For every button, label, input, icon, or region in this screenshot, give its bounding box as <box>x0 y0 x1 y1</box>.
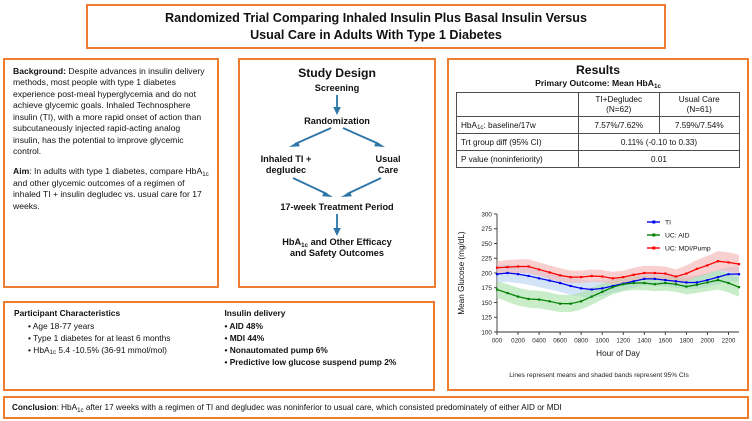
table-row: HbA1c: baseline/17w 7.57%/7.62% 7.59%/7.… <box>457 117 740 134</box>
table-row: P value (noninferiority) 0.01 <box>457 151 740 168</box>
flow-node-treatment-period: 17-week Treatment Period <box>240 202 434 213</box>
chart-legend: TIUC: AIDUC: MDI/Pump <box>647 220 711 253</box>
title-line-2: Usual Care in Adults With Type 1 Diabete… <box>250 28 502 42</box>
svg-text:275: 275 <box>481 226 492 233</box>
svg-text:250: 250 <box>481 241 492 248</box>
insulin-delivery-list: • AID 48% • MDI 44% • Nonautomated pump … <box>224 321 424 369</box>
cell-hba1c-uc: 7.59%/7.54% <box>659 117 740 134</box>
row0-label-before: HbA <box>461 121 477 130</box>
header-ti-line2: (N=62) <box>606 105 631 114</box>
svg-text:UC: AID: UC: AID <box>665 233 690 240</box>
aim-text-after: and other glycemic outcomes of a regimen… <box>13 178 202 211</box>
participant-characteristics-column: Participant Characteristics • Age 18-77 … <box>14 308 218 384</box>
header-uc-line2: (N=61) <box>687 105 712 114</box>
background-aim-panel: Background: Despite advances in insulin … <box>3 58 219 288</box>
aim-label: Aim <box>13 166 29 176</box>
flow-node-randomization: Randomization <box>240 116 434 127</box>
conclusion-subscript: 1c <box>77 407 84 414</box>
row0-label-sub: 1c <box>477 124 484 131</box>
flow-node-outcomes: HbA1c and Other Efficacy and Safety Outc… <box>240 237 434 259</box>
svg-text:000: 000 <box>492 338 503 345</box>
svg-text:2000: 2000 <box>701 338 715 345</box>
arm-uc-line-1: Usual <box>375 154 400 164</box>
mean-glucose-chart: 1001251501752002252502753000000200040006… <box>451 206 747 388</box>
conclusion-before: : HbA <box>57 403 77 412</box>
background-paragraph: Background: Despite advances in insulin … <box>13 66 209 157</box>
table-header-ti-degludec: TI+Degludec (N=62) <box>579 93 660 117</box>
results-heading: Results <box>454 63 742 77</box>
background-label: Background: <box>13 66 66 76</box>
arrow-arms-to-treatment <box>257 177 417 202</box>
outcomes-line-2: and Safety Outcomes <box>290 248 384 258</box>
results-subheading: Primary Outcome: Mean HbA1c <box>454 78 742 88</box>
conclusion-text: Conclusion: HbA1c after 17 weeks with a … <box>12 403 562 412</box>
header-ti-line1: TI+Degludec <box>595 95 642 104</box>
flow-node-arm-ti: Inhaled TI + degludec <box>245 154 327 176</box>
title-line-1: Randomized Trial Comparing Inhaled Insul… <box>165 11 587 25</box>
svg-text:225: 225 <box>481 256 492 263</box>
arm-ti-line-2: degludec <box>266 165 306 175</box>
svg-text:1000: 1000 <box>595 338 609 345</box>
results-subheading-subscript: 1c <box>654 83 661 90</box>
aim-text-before: : In adults with type 1 diabetes, compar… <box>29 166 202 176</box>
participants-heading: Participant Characteristics <box>14 308 218 320</box>
list-item: • AID 48% <box>224 321 424 333</box>
svg-text:0800: 0800 <box>574 338 588 345</box>
conclusion-after: after 17 weeks with a regimen of TI and … <box>84 403 562 412</box>
list-item: • Age 18-77 years <box>28 321 218 333</box>
svg-text:1800: 1800 <box>680 338 694 345</box>
list-item: • HbA1c 5.4 -10.5% (36-91 mmol/mol) <box>28 345 218 357</box>
background-text: Despite advances in insulin delivery met… <box>13 66 205 156</box>
results-panel: Results Primary Outcome: Mean HbA1c TI+D… <box>447 58 749 391</box>
participants-panel: Participant Characteristics • Age 18-77 … <box>3 301 435 391</box>
svg-text:300: 300 <box>481 211 492 218</box>
svg-text:125: 125 <box>481 315 492 322</box>
participant-item-duration: Type 1 diabetes for at least 6 months <box>33 333 170 343</box>
header-uc-line1: Usual Care <box>679 95 720 104</box>
arrow-screening-to-randomization <box>330 94 344 116</box>
outcomes-subscript: 1c <box>301 242 308 249</box>
table-row: Trt group diff (95% CI) 0.11% (-0.10 to … <box>457 134 740 151</box>
participant-item-hba1c-after: 5.4 -10.5% (36-91 mmol/mol) <box>56 345 167 355</box>
svg-text:Mean Glucose (mg/dL): Mean Glucose (mg/dL) <box>457 231 466 315</box>
title-banner: Randomized Trial Comparing Inhaled Insul… <box>86 4 666 49</box>
participant-item-age: Age 18-77 years <box>33 321 94 331</box>
study-design-heading: Study Design <box>240 66 434 80</box>
svg-text:175: 175 <box>481 285 492 292</box>
table-header-blank <box>457 93 579 117</box>
row-label-p-value: P value (noninferiority) <box>457 151 579 168</box>
chart-svg: 1001251501752002252502753000000200040006… <box>451 206 747 371</box>
svg-text:2200: 2200 <box>722 338 736 345</box>
participants-list: • Age 18-77 years • Type 1 diabetes for … <box>14 321 218 357</box>
cell-hba1c-ti: 7.57%/7.62% <box>579 117 660 134</box>
insulin-item-mdi: MDI 44% <box>230 333 264 343</box>
study-design-panel: Study Design Screening Randomization Inh… <box>238 58 436 288</box>
svg-text:0600: 0600 <box>553 338 567 345</box>
svg-text:0200: 0200 <box>511 338 525 345</box>
svg-text:TI: TI <box>665 220 671 227</box>
arm-uc-line-2: Care <box>378 165 398 175</box>
table-header-row: TI+Degludec (N=62) Usual Care (N=61) <box>457 93 740 117</box>
insulin-item-plgs: Predictive low glucose suspend pump 2% <box>230 357 397 367</box>
list-item: • Type 1 diabetes for at least 6 months <box>28 333 218 345</box>
insulin-delivery-heading: Insulin delivery <box>224 308 424 320</box>
aim-subscript: 1c <box>202 171 209 178</box>
primary-outcome-table: TI+Degludec (N=62) Usual Care (N=61) HbA… <box>456 92 740 168</box>
svg-text:Hour of Day: Hour of Day <box>596 349 641 358</box>
svg-text:0400: 0400 <box>532 338 546 345</box>
table-header-usual-care: Usual Care (N=61) <box>659 93 740 117</box>
arrow-randomization-split <box>257 127 417 152</box>
svg-text:200: 200 <box>481 270 492 277</box>
insulin-item-nonautomated: Nonautomated pump 6% <box>230 345 328 355</box>
svg-text:1200: 1200 <box>616 338 630 345</box>
outcomes-line-1-before: HbA <box>282 237 301 247</box>
conclusion-banner: Conclusion: HbA1c after 17 weeks with a … <box>3 396 749 419</box>
participant-item-hba1c-sub: 1c <box>50 349 57 356</box>
participant-item-hba1c-before: HbA <box>33 345 49 355</box>
svg-text:100: 100 <box>481 329 492 336</box>
flow-node-screening: Screening <box>240 83 434 94</box>
chart-caption: Lines represent means and shaded bands r… <box>451 372 747 379</box>
flow-arms-row: Inhaled TI + degludec Usual Care <box>240 154 434 176</box>
results-subheading-before: Primary Outcome: Mean HbA <box>535 78 654 88</box>
svg-text:150: 150 <box>481 300 492 307</box>
svg-text:1600: 1600 <box>658 338 672 345</box>
row-label-trt-diff: Trt group diff (95% CI) <box>457 134 579 151</box>
conclusion-label: Conclusion <box>12 403 57 412</box>
insulin-delivery-column: Insulin delivery • AID 48% • MDI 44% • N… <box>224 308 424 384</box>
cell-p-value: 0.01 <box>579 151 740 168</box>
row0-label-after: : baseline/17w <box>483 121 535 130</box>
insulin-item-aid: AID 48% <box>229 321 263 331</box>
list-item: • Predictive low glucose suspend pump 2% <box>224 357 424 369</box>
svg-text:UC: MDI/Pump: UC: MDI/Pump <box>665 246 711 253</box>
svg-text:1400: 1400 <box>637 338 651 345</box>
cell-trt-diff-value: 0.11% (-0.10 to 0.33) <box>579 134 740 151</box>
arrow-treatment-to-outcomes <box>330 213 344 237</box>
page-title: Randomized Trial Comparing Inhaled Insul… <box>165 10 587 42</box>
aim-paragraph: Aim: In adults with type 1 diabetes, com… <box>13 166 209 212</box>
flow-node-arm-usual-care: Usual Care <box>347 154 429 176</box>
list-item: • MDI 44% <box>224 333 424 345</box>
row-label-hba1c: HbA1c: baseline/17w <box>457 117 579 134</box>
arm-ti-line-1: Inhaled TI + <box>261 154 312 164</box>
outcomes-line-1-after: and Other Efficacy <box>308 237 392 247</box>
list-item: • Nonautomated pump 6% <box>224 345 424 357</box>
